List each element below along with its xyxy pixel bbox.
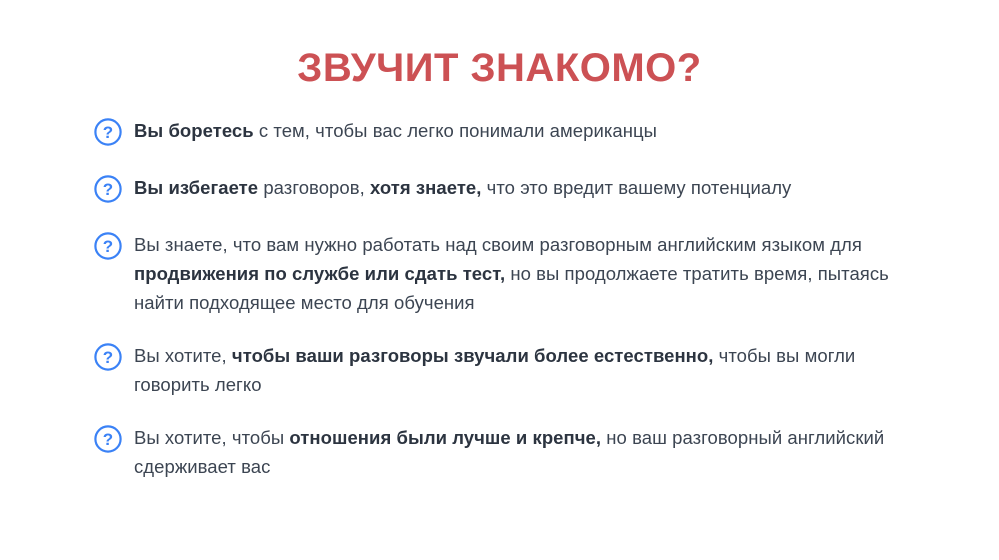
list-item-text: Вы избегаете разговоров, хотя знаете, чт…	[134, 173, 791, 202]
list-item: ? Вы знаете, что вам нужно работать над …	[93, 230, 889, 317]
svg-text:?: ?	[103, 123, 113, 142]
list-item: ? Вы хотите, чтобы ваши разговоры звучал…	[93, 341, 889, 399]
question-mark-circle-icon: ?	[93, 424, 123, 454]
svg-text:?: ?	[103, 348, 113, 367]
list-item-text: Вы хотите, чтобы отношения были лучше и …	[134, 423, 889, 481]
slide-root: ЗВУЧИТ ЗНАКОМО? ? Вы боретесь с тем, что…	[0, 0, 999, 560]
svg-text:?: ?	[103, 237, 113, 256]
svg-text:?: ?	[103, 180, 113, 199]
question-mark-circle-icon: ?	[93, 117, 123, 147]
page-title: ЗВУЧИТ ЗНАКОМО?	[0, 0, 999, 90]
question-mark-circle-icon: ?	[93, 342, 123, 372]
question-mark-circle-icon: ?	[93, 231, 123, 261]
list-item: ? Вы боретесь с тем, чтобы вас легко пон…	[93, 116, 889, 147]
list-item: ? Вы хотите, чтобы отношения были лучше …	[93, 423, 889, 481]
question-mark-circle-icon: ?	[93, 174, 123, 204]
benefits-list: ? Вы боретесь с тем, чтобы вас легко пон…	[0, 116, 999, 481]
list-item-text: Вы хотите, чтобы ваши разговоры звучали …	[134, 341, 889, 399]
list-item-text: Вы боретесь с тем, чтобы вас легко поним…	[134, 116, 657, 145]
list-item-text: Вы знаете, что вам нужно работать над св…	[134, 230, 889, 317]
list-item: ? Вы избегаете разговоров, хотя знаете, …	[93, 173, 889, 204]
svg-text:?: ?	[103, 430, 113, 449]
